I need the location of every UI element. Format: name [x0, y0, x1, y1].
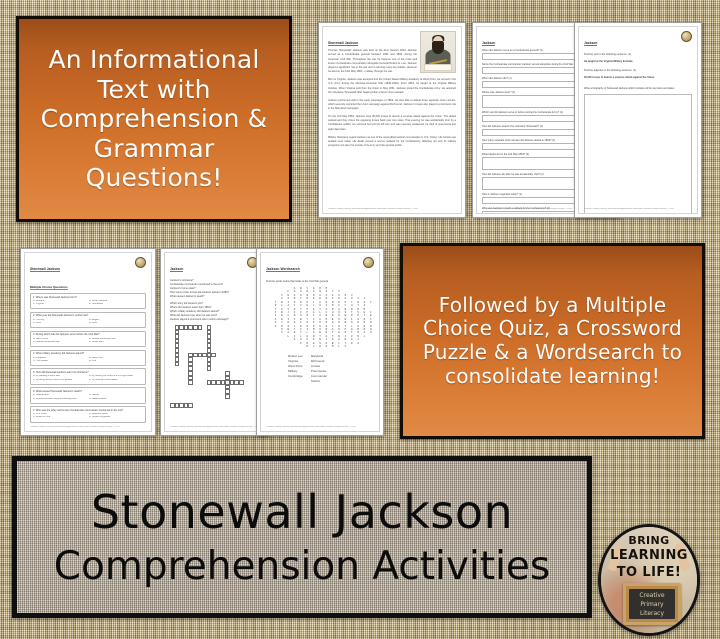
worksheet-page-crossword[interactable]: Jackson Jackson's nickname? Confederate … — [160, 248, 268, 436]
mcq-option[interactable]: C. Virginia — [33, 303, 87, 306]
wordsearch-word-list: Robert Lee Virginia West Point Military … — [288, 354, 374, 385]
crossword-cell[interactable] — [239, 380, 244, 385]
worksheet-page-multiple-choice[interactable]: Stonewall Jackson Multiple Choice Questi… — [20, 248, 156, 436]
mcq-option[interactable]: D. 1863 — [89, 322, 143, 325]
reading-paragraph: Military historians regard Jackson as on… — [328, 136, 456, 149]
questions-page-title: Jackson — [482, 41, 495, 46]
mcq-question: 6. What caused Stonewall Jackson's death… — [33, 390, 143, 393]
crossword-clue: Where did Jackson teach from 1851? — [170, 306, 258, 309]
mcq-option[interactable]: C. 1824 — [33, 322, 87, 325]
page-footer: Creative Primary Literacy www.teacherspa… — [584, 208, 692, 210]
product-subtitle: Comprehension Activities — [54, 547, 551, 586]
crossword-cell[interactable] — [211, 353, 216, 358]
wordsearch-instruction: Find the words below that relate to the … — [266, 280, 374, 283]
mcq-item[interactable]: 3. During which war did Jackson serve be… — [30, 331, 146, 347]
mcq-question: 1. Where was Stonewall Jackson born? — [33, 296, 143, 299]
mcq-option[interactable]: C. Spanish-American War — [33, 341, 87, 344]
badge-seal-icon — [363, 257, 374, 268]
grammar-sentence: He taught at the Virginia Military Insti… — [584, 60, 692, 63]
mcq-item[interactable]: 1. Where was Stonewall Jackson born? A. … — [30, 293, 146, 309]
worksheet-page-grammar[interactable]: Jackson Find the verb in the following s… — [574, 22, 702, 218]
reading-page-title: Stonewall Jackson — [328, 41, 358, 46]
wordsearch-word: Cambridge — [288, 374, 303, 379]
chalkboard-text: Creative Primary Literacy — [629, 589, 675, 619]
chalkboard-line-2: Primary — [640, 600, 663, 609]
chalkboard-line-3: Literacy — [640, 609, 664, 618]
logo-line-1: BRING — [601, 534, 697, 547]
worksheet-page-reading-passage[interactable]: Stonewall Jackson Thomas "Stonewall" Jac… — [318, 22, 466, 218]
mcq-option[interactable]: C. The Citadel — [33, 360, 87, 363]
grammar-prompt: Find the adjective in the following sent… — [584, 69, 692, 72]
worksheet-page-wordsearch[interactable]: Jackson Wordsearch Find the words below … — [256, 248, 384, 436]
crossword-cell[interactable] — [202, 353, 207, 358]
mcq-option[interactable]: D. World War I — [89, 341, 143, 344]
reading-paragraph: Jackson performed well in the early camp… — [328, 99, 456, 112]
mcq-question: 3. During which war did Jackson serve be… — [33, 333, 143, 336]
logo-line-3: TO LIFE! — [601, 565, 697, 580]
mcq-item[interactable]: 5. How did Stonewall Jackson earn his ni… — [30, 368, 146, 384]
reading-paragraph: On the 2nd May 1863, Jackson took 30,000… — [328, 115, 456, 132]
crossword-page-title: Jackson — [170, 267, 183, 272]
crossword-cell[interactable] — [188, 380, 193, 385]
crossword-cell[interactable] — [198, 325, 203, 330]
crossword-cell[interactable] — [225, 394, 230, 399]
crossword-clue: What caused Jackson's death? — [170, 295, 258, 298]
badge-seal-icon — [135, 257, 146, 268]
product-title-bar: Stonewall Jackson Comprehension Activiti… — [12, 456, 592, 618]
mcq-page-title: Stonewall Jackson — [30, 267, 60, 272]
crossword-clue: How many Union armies did Jackson defeat… — [170, 291, 258, 294]
chalkboard-icon: Creative Primary Literacy — [623, 583, 681, 625]
crossword-cell[interactable] — [175, 362, 180, 367]
wordsearch-word: Tactics — [311, 379, 328, 384]
grammar-prompt: Find the verb in the following sentence.… — [584, 53, 692, 56]
mcq-option[interactable]: D. Battle wounds — [89, 398, 143, 401]
mcq-item[interactable]: 4. What military academy did Jackson att… — [30, 350, 146, 366]
mcq-page-content: Stonewall Jackson Multiple Choice Questi… — [24, 252, 152, 432]
mcq-page-subtitle: Multiple Choice Questions — [30, 285, 68, 290]
wordsearch-cell[interactable] — [368, 345, 374, 348]
stonewall-jackson-portrait-image — [420, 31, 456, 73]
crossword-cell[interactable] — [221, 380, 226, 385]
mcq-option[interactable]: D. James Longstreet — [89, 416, 143, 419]
logo-line-2: LEARNING — [601, 548, 697, 563]
mcq-option[interactable]: D. Tennessee — [89, 303, 143, 306]
mcq-option[interactable]: C. Pneumonia after being accidentally sh… — [33, 398, 87, 401]
mcq-question: 4. What military academy did Jackson att… — [33, 352, 143, 355]
badge-seal-icon — [681, 31, 692, 42]
promo-panel-informational-text: An Informational Text with Comprehension… — [16, 16, 292, 222]
wordsearch-word-column-1: Robert Lee Virginia West Point Military … — [288, 354, 303, 385]
wordsearch-page-title: Jackson Wordsearch — [266, 267, 300, 272]
crossword-clue: Which military academy did Jackson atten… — [170, 310, 258, 313]
grammar-task: Write a biography of Stonewall Jackson w… — [584, 87, 692, 90]
grammar-page-title: Jackson — [584, 41, 597, 46]
promo-panel-quiz-crossword-wordsearch: Followed by a Multiple Choice Quiz, a Cr… — [400, 243, 705, 439]
reading-paragraph: Born in Virginia, Jackson was accepted i… — [328, 78, 456, 95]
crossword-clue: Jackson's nickname? — [170, 279, 258, 282]
mcq-option[interactable]: C. Robert E. Lee — [33, 416, 87, 419]
mcq-option[interactable]: D. By holding a stone attack — [89, 379, 143, 382]
crossword-clue-list: Jackson's nickname? Confederate commande… — [170, 279, 258, 321]
wordsearch-word-column-2: Maryland Richmond Armies Pneumonia Comma… — [311, 354, 328, 385]
crossword-grid[interactable] — [170, 325, 258, 432]
brand-logo: BRING LEARNING TO LIFE! Creative Primary… — [598, 524, 700, 636]
page-footer: Creative Primary Literacy www.teacherspa… — [170, 426, 258, 428]
page-footer: Creative Primary Literacy www.teacherspa… — [30, 426, 146, 428]
mcq-item[interactable]: 2. What year did Stonewall Jackson's mot… — [30, 312, 146, 328]
mcq-option[interactable]: D. VMI — [89, 360, 143, 363]
crossword-clue: Confederate commander mentioned in the t… — [170, 283, 258, 286]
crossword-cell[interactable] — [188, 403, 193, 408]
wordsearch-page-content: Jackson Wordsearch Find the words below … — [260, 252, 380, 432]
crossword-page-content: Jackson Jackson's nickname? Confederate … — [164, 252, 264, 432]
crossword-clue: Jackson's home state? — [170, 287, 258, 290]
mcq-question: 5. How did Stonewall Jackson earn his ni… — [33, 371, 143, 374]
product-title: Stonewall Jackson — [91, 489, 513, 535]
mcq-item[interactable]: 6. What caused Stonewall Jackson's death… — [30, 387, 146, 403]
wordsearch-letter-grid[interactable]: ABVGOMFHSRGNSYTXEGABOAXIKOVAAMTMEWNFEAOI… — [266, 287, 374, 349]
reading-page-content: Stonewall Jackson Thomas "Stonewall" Jac… — [322, 26, 462, 214]
mcq-question: 2. What year did Stonewall Jackson's mot… — [33, 314, 143, 317]
writing-answer-area[interactable] — [584, 94, 692, 214]
mcq-option[interactable]: C. By being quick to flee a firm assault — [33, 379, 87, 382]
crossword-clue: Which army did Jackson join? — [170, 302, 258, 305]
grammar-sentence: 30,000 troops to launch a surprise attac… — [584, 76, 692, 79]
promo-panel-1-text: An Informational Text with Comprehension… — [19, 43, 289, 195]
promo-panel-2-text: Followed by a Multiple Choice Quiz, a Cr… — [403, 292, 702, 390]
wordsearch-word: Robert Lee — [288, 354, 303, 359]
mcq-item[interactable]: 7. Who was the other well known Confeder… — [30, 406, 146, 422]
chalkboard-line-1: Creative — [639, 591, 664, 600]
crossword-cell[interactable] — [207, 366, 212, 371]
page-footer: Creative Primary Literacy www.teacherspa… — [266, 426, 374, 428]
grammar-page-content: Jackson Find the verb in the following s… — [578, 26, 698, 214]
crossword-clue: Jackson played a prominent role in which… — [170, 318, 258, 321]
mcq-question: 7. Who was the other well known Confeder… — [33, 409, 143, 412]
crossword-clue: What did Jackson lose when he was shot? — [170, 314, 258, 317]
crossword-cell[interactable] — [234, 431, 239, 432]
page-footer: Creative Primary Literacy www.teacherspa… — [328, 208, 456, 210]
